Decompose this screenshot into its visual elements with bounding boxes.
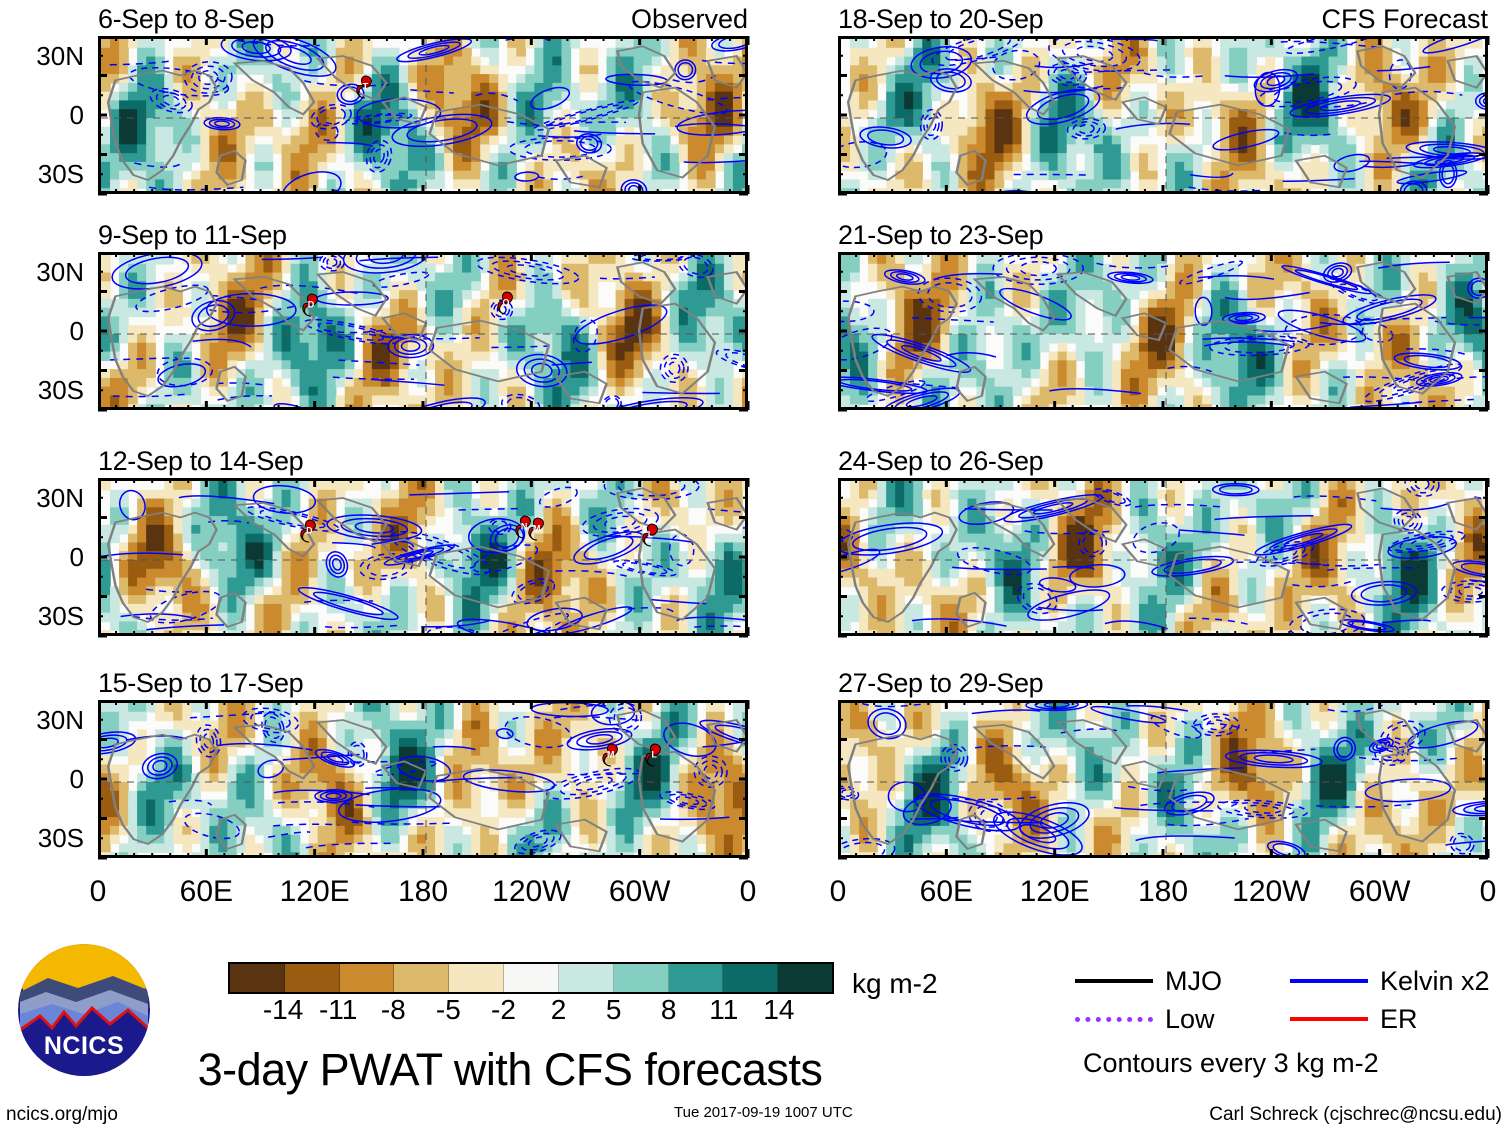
column-header: Observed bbox=[631, 4, 748, 34]
storm-label: M bbox=[607, 751, 615, 760]
map-field bbox=[841, 703, 1488, 858]
x-axis-tick-label: 120W bbox=[1232, 875, 1310, 909]
legend-item-kelvin-x2: Kelvin x2 bbox=[1290, 966, 1505, 997]
page-title: 3-day PWAT with CFS forecasts bbox=[0, 1044, 1020, 1096]
contour-interval-note: Contours every 3 kg m-2 bbox=[1083, 1048, 1379, 1079]
colorbar: -14-11-8-5-22581114 bbox=[228, 962, 834, 1028]
legend-label: Low bbox=[1165, 1004, 1215, 1035]
colorbar-tick-labels: -14-11-8-5-22581114 bbox=[228, 994, 834, 1028]
map-p4[interactable] bbox=[98, 700, 748, 858]
panel-title: 9-Sep to 11-Sep bbox=[98, 220, 287, 250]
y-axis-tick-label: 30N bbox=[36, 259, 84, 285]
y-axis-tick-label: 0 bbox=[70, 102, 84, 128]
panel-title: 27-Sep to 29-Sep bbox=[838, 668, 1043, 698]
colorbar-tick-label: -5 bbox=[436, 994, 461, 1026]
panel-title: 21-Sep to 23-Sep bbox=[838, 220, 1043, 250]
colorbar-tick-label: -11 bbox=[319, 994, 357, 1026]
x-axis-tick-label: 120E bbox=[280, 875, 350, 909]
legend-label: Kelvin x2 bbox=[1380, 966, 1490, 997]
legend-line-swatch bbox=[1290, 1017, 1368, 1021]
y-axis-tick-label: 30S bbox=[38, 377, 84, 403]
footer-site-link[interactable]: ncics.org/mjo bbox=[6, 1104, 118, 1126]
x-axis-tick-label: 0 bbox=[1480, 875, 1497, 909]
panel-title: 12-Sep to 14-Sep bbox=[98, 446, 303, 476]
colorbar-swatch bbox=[449, 964, 504, 992]
storm-marker[interactable]: D bbox=[299, 519, 319, 543]
legend-row: LowER bbox=[1075, 1000, 1505, 1038]
colorbar-swatch bbox=[778, 964, 832, 992]
x-axis-tick-label: 0 bbox=[830, 875, 847, 909]
map-p1[interactable] bbox=[98, 36, 748, 194]
storm-label: T bbox=[362, 83, 368, 92]
map-field bbox=[101, 39, 748, 194]
legend-item-er: ER bbox=[1290, 1004, 1505, 1035]
y-axis-tick-label: 0 bbox=[70, 544, 84, 570]
colorbar-swatch bbox=[669, 964, 724, 992]
colorbar-tick-label: 14 bbox=[763, 994, 794, 1026]
colorbar-swatch bbox=[394, 964, 449, 992]
storm-label: L bbox=[651, 751, 657, 760]
legend: MJOKelvin x2LowER bbox=[1075, 962, 1505, 1038]
storm-label: O bbox=[503, 299, 510, 308]
storm-label: L bbox=[648, 531, 654, 540]
map-field bbox=[101, 481, 748, 636]
map-p5[interactable] bbox=[838, 36, 1488, 194]
storm-marker[interactable]: M bbox=[601, 743, 621, 767]
x-axis-tick-label: 60E bbox=[180, 875, 233, 909]
map-field bbox=[101, 255, 748, 410]
colorbar-swatch bbox=[285, 964, 340, 992]
legend-line-swatch bbox=[1075, 1017, 1153, 1022]
footer-timestamp: Tue 2017-09-19 1007 UTC bbox=[674, 1104, 853, 1121]
y-axis-tick-label: 0 bbox=[70, 318, 84, 344]
storm-marker[interactable]: L bbox=[641, 523, 661, 547]
y-axis-tick-label: 0 bbox=[70, 766, 84, 792]
panel-title: 6-Sep to 8-Sep bbox=[98, 4, 274, 34]
column-header: CFS Forecast bbox=[1321, 4, 1488, 34]
colorbar-swatch bbox=[504, 964, 559, 992]
map-p2[interactable] bbox=[98, 252, 748, 410]
x-axis-tick-label: 120E bbox=[1020, 875, 1090, 909]
y-axis-tick-label: 30N bbox=[36, 485, 84, 511]
colorbar-tick-label: -2 bbox=[491, 994, 516, 1026]
colorbar-swatch bbox=[230, 964, 285, 992]
x-axis-tick-label: 180 bbox=[1138, 875, 1188, 909]
y-axis-tick-label: 30S bbox=[38, 161, 84, 187]
x-axis-tick-label: 60E bbox=[920, 875, 973, 909]
x-axis-tick-label: 0 bbox=[740, 875, 757, 909]
storm-label: M bbox=[533, 525, 541, 534]
colorbar-swatches bbox=[228, 962, 834, 994]
y-axis-tick-label: 30N bbox=[36, 43, 84, 69]
storm-label: D bbox=[308, 301, 315, 310]
x-axis-tick-label: 120W bbox=[492, 875, 570, 909]
legend-item-low: Low bbox=[1075, 1004, 1290, 1035]
x-axis-tick-label: 0 bbox=[90, 875, 107, 909]
storm-marker[interactable]: O bbox=[496, 291, 516, 315]
y-axis-tick-label: 30S bbox=[38, 603, 84, 629]
map-p6[interactable] bbox=[838, 252, 1488, 410]
storm-marker[interactable]: M bbox=[527, 517, 547, 541]
ncics-logo-text: NCICS bbox=[18, 1032, 150, 1061]
map-p8[interactable] bbox=[838, 700, 1488, 858]
legend-label: MJO bbox=[1165, 966, 1222, 997]
storm-marker[interactable]: L bbox=[644, 743, 664, 767]
x-axis-labels: 060E120E180120W60W0 bbox=[838, 875, 1488, 915]
colorbar-swatch bbox=[340, 964, 395, 992]
colorbar-tick-label: 11 bbox=[709, 994, 738, 1026]
legend-row: MJOKelvin x2 bbox=[1075, 962, 1505, 1000]
x-axis-tick-label: 60W bbox=[1349, 875, 1411, 909]
x-axis-tick-label: 60W bbox=[609, 875, 671, 909]
map-field bbox=[841, 255, 1488, 410]
panel-title: 18-Sep to 20-Sep bbox=[838, 4, 1043, 34]
colorbar-tick-label: -14 bbox=[263, 994, 303, 1026]
storm-label: D bbox=[306, 527, 313, 536]
y-axis-tick-label: 30S bbox=[38, 825, 84, 851]
x-axis-tick-label: 180 bbox=[398, 875, 448, 909]
map-field bbox=[841, 39, 1488, 194]
colorbar-tick-label: -8 bbox=[381, 994, 406, 1026]
x-axis-labels: 060E120E180120W60W0 bbox=[98, 875, 748, 915]
map-field bbox=[841, 481, 1488, 636]
storm-marker[interactable]: D bbox=[301, 293, 321, 317]
legend-label: ER bbox=[1380, 1004, 1418, 1035]
map-p7[interactable] bbox=[838, 478, 1488, 636]
colorbar-tick-label: 8 bbox=[661, 994, 677, 1026]
map-p3[interactable] bbox=[98, 478, 748, 636]
colorbar-tick-label: 5 bbox=[606, 994, 622, 1026]
footer-author: Carl Schreck (cjschrec@ncsu.edu) bbox=[1209, 1104, 1502, 1126]
legend-line-swatch bbox=[1075, 979, 1153, 983]
storm-marker[interactable]: T bbox=[355, 75, 375, 99]
colorbar-units-label: kg m-2 bbox=[852, 968, 938, 1000]
map-field bbox=[101, 703, 748, 858]
colorbar-tick-label: 2 bbox=[551, 994, 567, 1026]
panel-title: 15-Sep to 17-Sep bbox=[98, 668, 303, 698]
y-axis-tick-label: 30N bbox=[36, 707, 84, 733]
panel-title: 24-Sep to 26-Sep bbox=[838, 446, 1043, 476]
legend-line-swatch bbox=[1290, 979, 1368, 983]
colorbar-swatch bbox=[723, 964, 778, 992]
colorbar-swatch bbox=[614, 964, 669, 992]
colorbar-swatch bbox=[559, 964, 614, 992]
legend-item-mjo: MJO bbox=[1075, 966, 1290, 997]
